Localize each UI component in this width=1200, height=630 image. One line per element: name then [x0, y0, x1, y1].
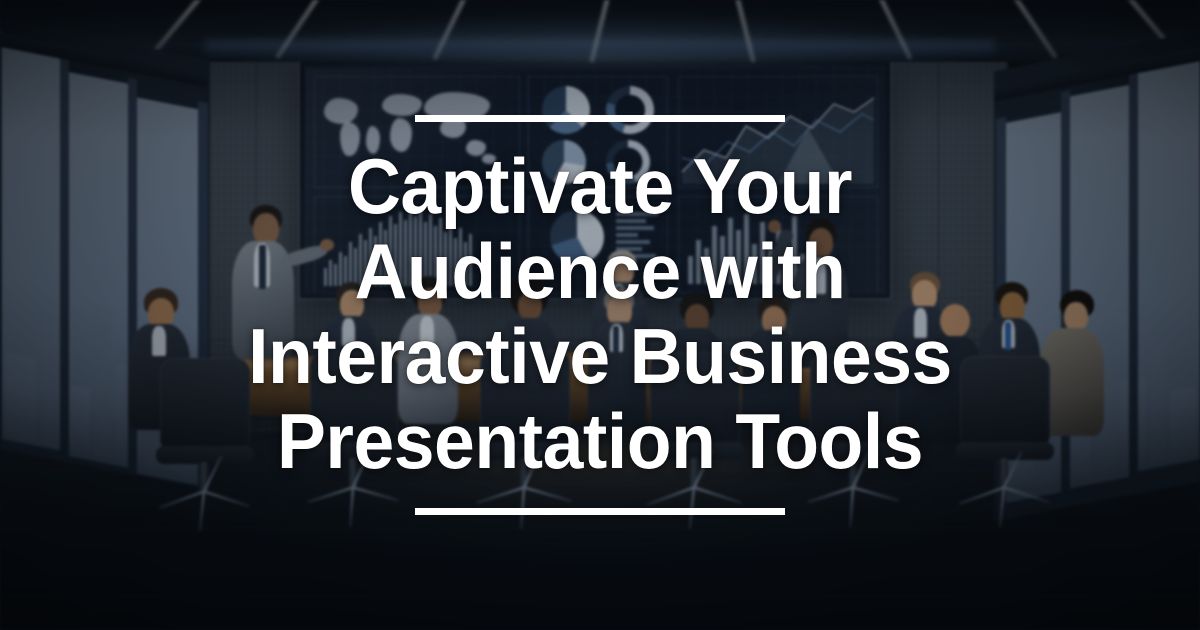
divider-top	[415, 115, 785, 122]
page-title: Captivate Your Audience with Interactive…	[92, 144, 1107, 484]
presentation-banner: Captivate Your Audience with Interactive…	[0, 0, 1200, 630]
divider-bottom	[415, 508, 785, 515]
headline-overlay: Captivate Your Audience with Interactive…	[0, 0, 1200, 630]
